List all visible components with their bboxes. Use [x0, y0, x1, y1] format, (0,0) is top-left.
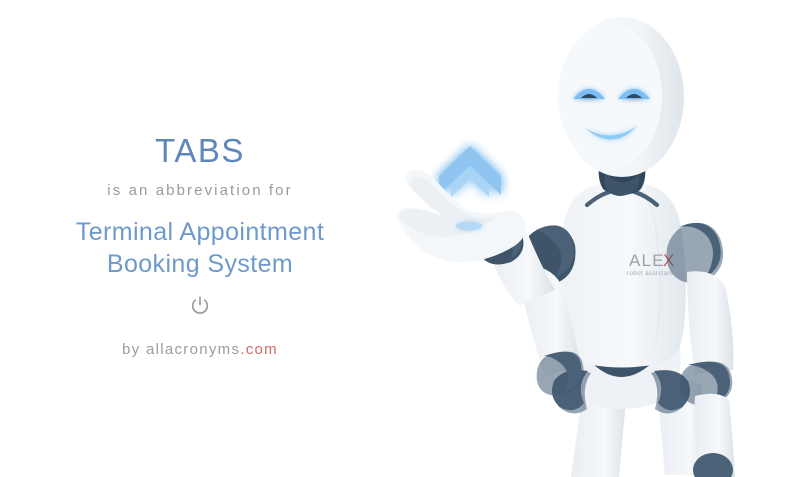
- site-credit[interactable]: by allacronyms.com: [0, 340, 400, 360]
- abbreviation-connector-text: is an abbreviation for: [0, 181, 400, 201]
- chevron-up-hologram-icon: [439, 146, 501, 197]
- badge-name-text: ALE: [629, 251, 665, 270]
- credit-site-name[interactable]: allacronyms: [146, 341, 240, 358]
- credit-prefix: by: [122, 341, 146, 358]
- acronym-expansion-line-2: Booking System: [0, 248, 400, 280]
- definition-text-column: TABS is an abbreviation for Terminal App…: [0, 0, 400, 477]
- badge-subtitle-text: robot assistant: [627, 270, 673, 277]
- divider-ornament: [0, 296, 400, 324]
- power-icon: [191, 296, 209, 316]
- acronym-term: TABS: [0, 131, 400, 171]
- robot-assistant-illustration: ALE X robot assistant: [395, 0, 801, 477]
- acronym-expansion-line-1: Terminal Appointment: [0, 216, 400, 248]
- acronym-expansion: Terminal Appointment Booking System: [0, 216, 400, 280]
- credit-site-tld[interactable]: .com: [240, 341, 278, 358]
- acronym-definition-page: TABS is an abbreviation for Terminal App…: [0, 0, 801, 477]
- robot-head: [558, 17, 684, 177]
- robot-arm-left: [397, 170, 583, 396]
